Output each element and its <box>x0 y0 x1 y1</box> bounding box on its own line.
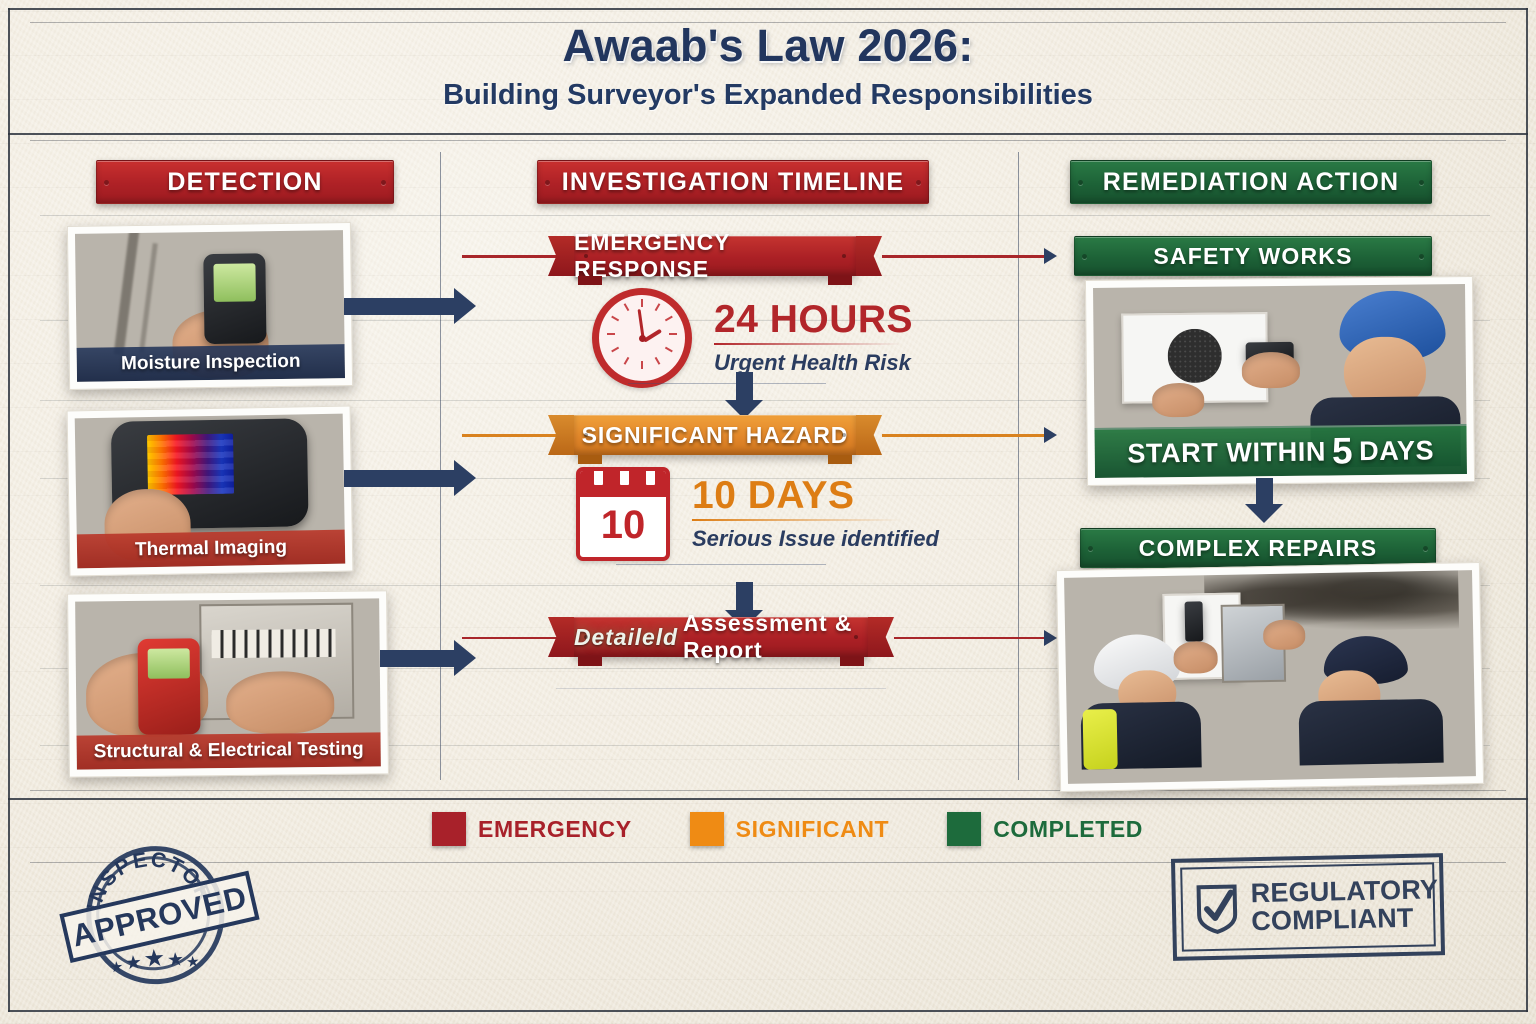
stamp-text: REGULATORY COMPLIANT <box>1250 877 1439 936</box>
ribbon-fold-right <box>828 276 852 285</box>
check-shield-icon <box>1194 882 1239 935</box>
remediation-header-safety-works[interactable]: SAFETY WORKS <box>1074 236 1432 276</box>
timeline-connector-right-3 <box>894 637 1044 639</box>
worker-torso <box>1298 699 1443 766</box>
two-workers-repairing-mould-ceiling-photo <box>1064 570 1476 784</box>
ribbon-fold-right <box>840 657 864 666</box>
circuit-breakers <box>211 629 335 658</box>
flow-arrow-detection-3 <box>380 650 456 667</box>
legend-item-significant[interactable]: SIGNIFICANT <box>690 812 890 846</box>
wall-crack <box>139 243 158 353</box>
ribbon-fold-left <box>578 276 602 285</box>
divider <box>714 343 902 345</box>
column-header-detection-label: DETECTION <box>167 168 322 197</box>
column-header-remediation-label: REMEDIATION ACTION <box>1103 168 1400 197</box>
divider <box>692 519 902 521</box>
meter-display <box>213 263 256 302</box>
legend-swatch-emergency <box>432 812 466 846</box>
clock-icon <box>592 288 692 388</box>
ribbon-rivet-icon <box>842 433 846 437</box>
star-icon: ★ <box>166 948 185 972</box>
screw-icon <box>1082 254 1087 259</box>
timeline-connector-right-2 <box>882 434 1044 437</box>
legend-item-completed[interactable]: COMPLETED <box>947 812 1143 846</box>
ribbon-rivet-icon <box>584 254 588 258</box>
ribbon-fold-right <box>828 455 852 464</box>
frame-rule-bottom1 <box>30 790 1506 791</box>
timeline-value: 24 HOURS <box>714 300 913 339</box>
column-header-investigation[interactable]: INVESTIGATION TIMELINE <box>537 160 929 204</box>
screw-icon <box>1078 180 1083 185</box>
calendar-icon: 10 <box>576 467 670 561</box>
detection-card-electrical[interactable]: Structural & Electrical Testing <box>67 590 389 777</box>
legend-swatch-completed <box>947 812 981 846</box>
detection-card-caption: Structural & Electrical Testing <box>77 732 381 769</box>
star-icon: ★ <box>124 951 143 975</box>
calendar-ring <box>644 467 657 487</box>
timeline-rule <box>628 383 826 384</box>
timeline-detail-significant: 10 10 DAYS Serious Issue identified <box>576 467 939 561</box>
legend: EMERGENCY SIGNIFICANT COMPLETED <box>432 812 1143 846</box>
column-header-detection[interactable]: DETECTION <box>96 160 394 204</box>
timeline-ribbon-label: SIGNIFICANT HAZARD <box>582 422 849 449</box>
timeline-ribbon-report[interactable]: Detaileld Assessment & Report <box>574 617 868 657</box>
calendar-ring <box>618 467 631 487</box>
multimeter-display <box>148 648 190 678</box>
hi-vis-vest <box>1083 709 1118 770</box>
legend-label-completed: COMPLETED <box>993 816 1143 843</box>
frame-rule-left <box>8 8 10 1012</box>
stamp-line2: COMPLIANT <box>1251 904 1439 935</box>
frame-rule-midtop2 <box>30 140 1506 141</box>
hand <box>1173 641 1218 674</box>
hand <box>1152 383 1204 418</box>
arrow-tip-icon <box>1044 630 1057 646</box>
remediation-card-complex-repairs[interactable] <box>1056 562 1484 792</box>
ribbon-rivet-icon <box>854 635 858 639</box>
timeline-value: 10 DAYS <box>692 476 939 515</box>
caption-text: Thermal Imaging <box>135 537 287 562</box>
page-title: Awaab's Law 2026: <box>0 22 1536 69</box>
infographic-page: Awaab's Law 2026: Building Surveyor's Ex… <box>0 0 1536 1024</box>
frame-rule-midtop <box>8 133 1528 135</box>
legend-label-significant: SIGNIFICANT <box>736 816 890 843</box>
star-icon: ★ <box>186 952 201 971</box>
flow-arrow-detection-1 <box>344 298 456 315</box>
ribbon-rivet-icon <box>842 254 846 258</box>
calendar-ring <box>592 467 605 487</box>
flow-arrow-down-1 <box>736 372 753 402</box>
legend-item-emergency[interactable]: EMERGENCY <box>432 812 632 846</box>
ruled-line <box>40 215 1490 216</box>
ribbon-tail-right <box>856 236 882 276</box>
detection-card-caption: Thermal Imaging <box>77 530 346 569</box>
screw-icon <box>916 180 921 185</box>
timeline-ribbon-significant[interactable]: SIGNIFICANT HAZARD <box>574 415 856 455</box>
detection-card-caption: Moisture Inspection <box>77 344 345 382</box>
star-icon: ★ <box>109 958 124 977</box>
timeline-rule <box>556 688 886 689</box>
stamp-inspector-approved: INSPECTOR ★ ★ ★ ★ ★ APPROVED <box>57 834 256 987</box>
ribbon-tail-right <box>856 415 882 455</box>
band-prefix: START WITHIN <box>1127 436 1326 469</box>
timeline-ribbon-word2: Assessment & Report <box>683 610 868 664</box>
arrow-tip-icon <box>1044 427 1057 443</box>
ribbon-rivet-icon <box>584 433 588 437</box>
vent-grille <box>1167 329 1222 384</box>
screw-icon <box>1423 546 1428 551</box>
screw-icon <box>1088 546 1093 551</box>
ribbon-tail-right <box>868 617 894 657</box>
wall-crack <box>114 230 140 355</box>
screw-icon <box>545 180 550 185</box>
band-suffix: DAYS <box>1359 435 1434 467</box>
page-subtitle: Building Surveyor's Expanded Responsibil… <box>0 79 1536 112</box>
timeline-ribbon-word1: Detaileld <box>574 624 678 651</box>
screw-icon <box>381 180 386 185</box>
stamp-inner-border: REGULATORY COMPLIANT <box>1180 862 1436 951</box>
column-header-remediation[interactable]: REMEDIATION ACTION <box>1070 160 1432 204</box>
structural-electrical-photo: Structural & Electrical Testing <box>75 598 381 769</box>
frame-rule-right <box>1526 8 1528 1012</box>
flow-arrow-down-remediation <box>1256 478 1273 506</box>
hand <box>1263 619 1306 650</box>
column-header-investigation-label: INVESTIGATION TIMELINE <box>562 168 905 197</box>
remediation-header-label: SAFETY WORKS <box>1153 243 1352 270</box>
flow-arrow-detection-2 <box>344 470 456 487</box>
calendar-day-number: 10 <box>580 497 666 553</box>
remediation-card-safety-works[interactable]: START WITHIN 5 DAYS <box>1085 276 1475 486</box>
timeline-rule <box>616 564 826 565</box>
thermal-image-display <box>147 434 234 495</box>
band-number: 5 <box>1332 430 1354 472</box>
header: Awaab's Law 2026: Building Surveyor's Ex… <box>0 22 1536 112</box>
legend-swatch-significant <box>690 812 724 846</box>
thermal-imaging-photo: Thermal Imaging <box>75 414 346 569</box>
star-icon: ★ <box>143 944 166 974</box>
timeline-ribbon-emergency[interactable]: EMERGENCY RESPONSE <box>574 236 856 276</box>
frame-rule-top <box>8 8 1528 10</box>
ribbon-fold-left <box>578 455 602 464</box>
ribbon-fold-left <box>578 657 602 666</box>
start-within-band: START WITHIN 5 DAYS <box>1094 424 1467 478</box>
technician-installing-vent-photo: START WITHIN 5 DAYS <box>1093 284 1467 478</box>
screw-icon <box>1419 254 1424 259</box>
caption-text: Structural & Electrical Testing <box>94 739 364 764</box>
ribbon-rivet-icon <box>584 635 588 639</box>
hand <box>226 671 335 734</box>
caption-text: Moisture Inspection <box>121 351 301 376</box>
stamp-regulatory-compliant: REGULATORY COMPLIANT <box>1171 853 1445 961</box>
moisture-inspection-photo: Moisture Inspection <box>75 230 345 382</box>
handheld-tool <box>1185 601 1204 641</box>
arrow-tip-icon <box>1044 248 1057 264</box>
frame-rule-edge-bottom <box>8 1010 1528 1012</box>
screw-icon <box>104 180 109 185</box>
timeline-connector-right-1 <box>882 255 1044 258</box>
flow-arrow-down-2 <box>736 582 753 612</box>
frame-rule-bottom2 <box>8 798 1528 800</box>
screw-icon <box>1419 180 1424 185</box>
remediation-header-complex-repairs[interactable]: COMPLEX REPAIRS <box>1080 528 1436 568</box>
timeline-subtitle: Serious Issue identified <box>692 526 939 552</box>
detection-card-thermal[interactable]: Thermal Imaging <box>67 406 354 577</box>
remediation-header-label: COMPLEX REPAIRS <box>1139 535 1378 562</box>
column-divider-right <box>1018 152 1019 780</box>
hand <box>1242 352 1300 389</box>
legend-label-emergency: EMERGENCY <box>478 816 632 843</box>
detection-card-moisture[interactable]: Moisture Inspection <box>67 222 353 390</box>
timeline-ribbon-label: EMERGENCY RESPONSE <box>574 229 856 283</box>
column-divider-left <box>440 152 441 780</box>
